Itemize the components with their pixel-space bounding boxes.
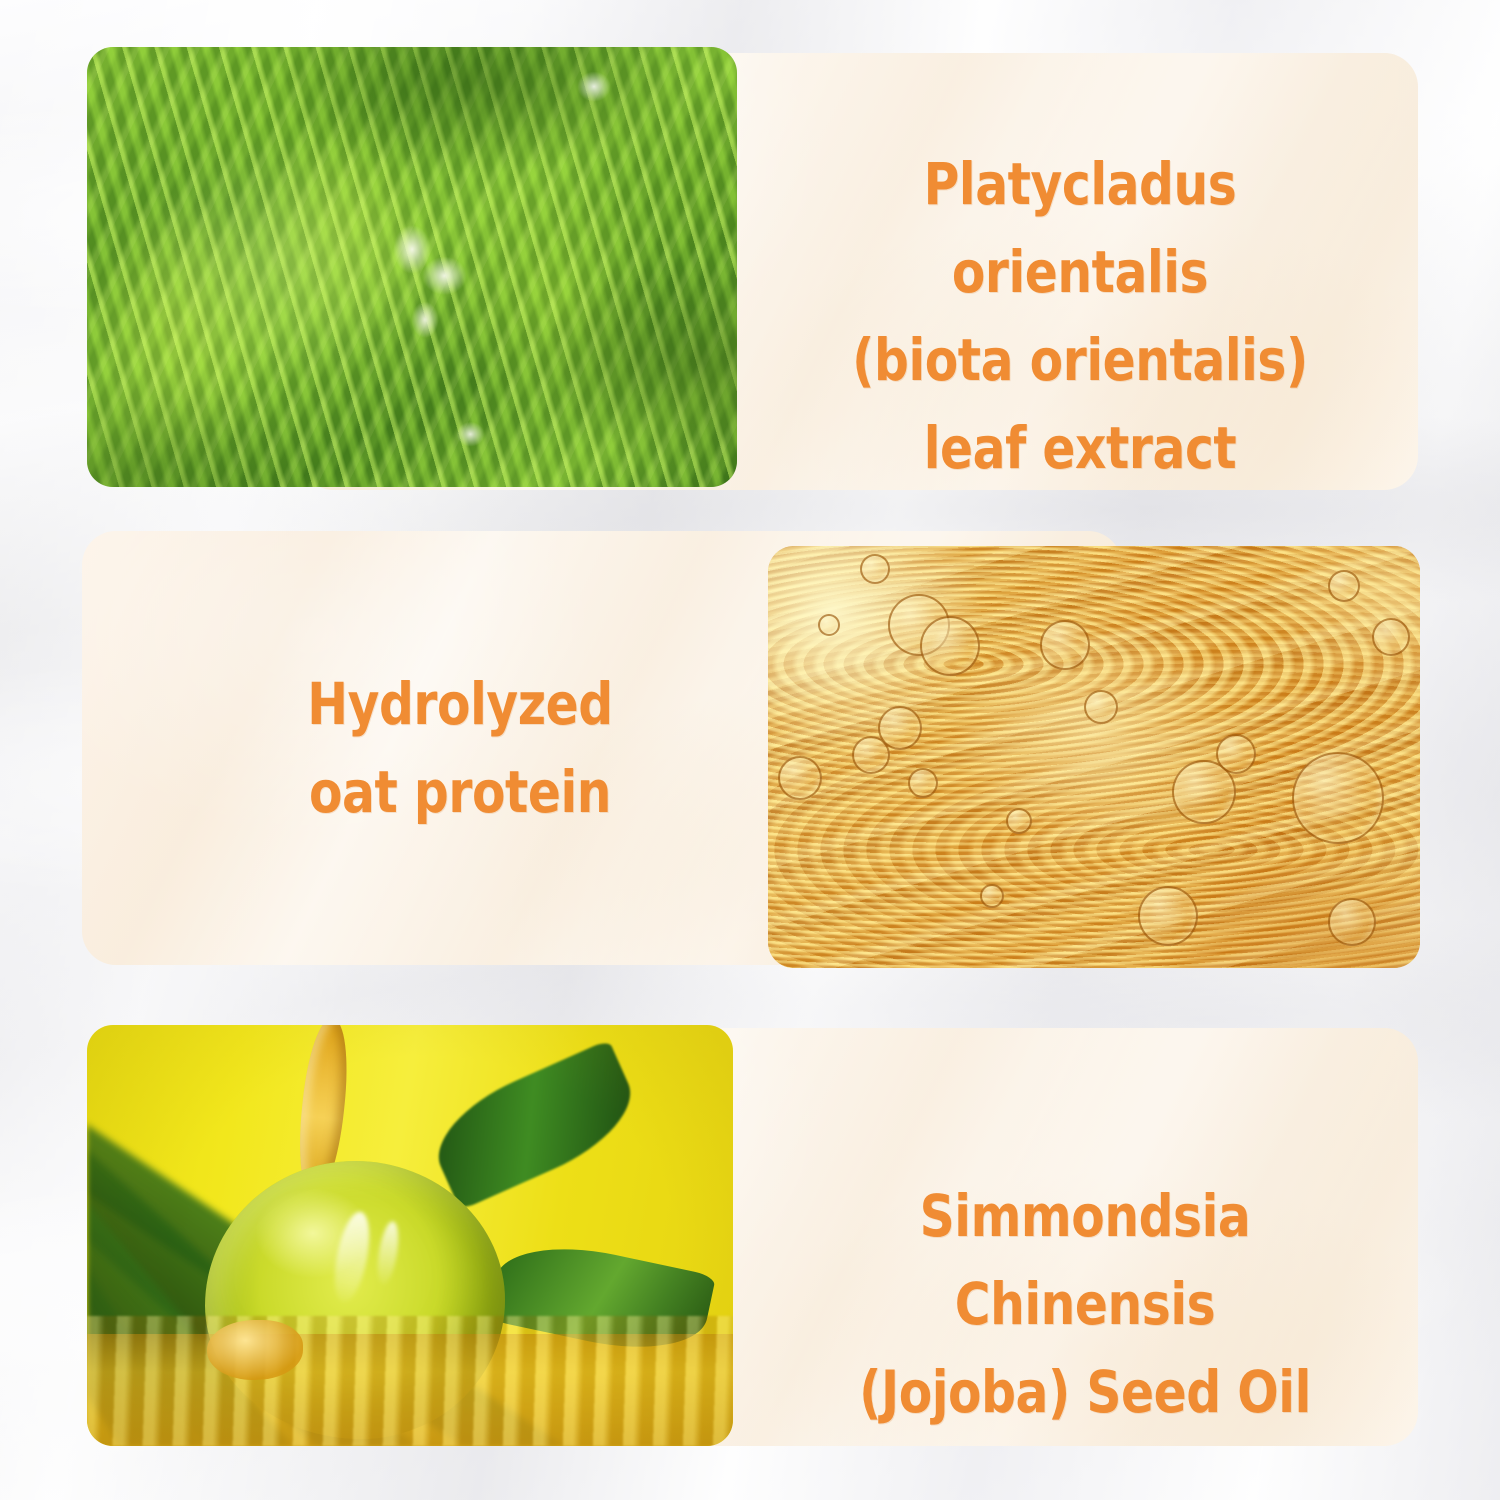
- oil-bubble: [1216, 734, 1256, 774]
- oil-bubble: [1372, 618, 1410, 656]
- foliage-buds: [87, 47, 737, 487]
- photo-vignette: [87, 1025, 733, 1446]
- oil-bubble: [1292, 752, 1384, 844]
- ingredient-name-platycladus: Platycladus orientalis (biota orientalis…: [794, 140, 1365, 493]
- oil-bubble: [860, 554, 890, 584]
- jojoba-berry-oil-photo: [87, 1025, 733, 1446]
- oil-bubble: [908, 768, 938, 798]
- oil-bubble: [818, 614, 840, 636]
- oil-bubble: [980, 884, 1004, 908]
- oil-bubble: [778, 756, 822, 800]
- wheat-in-oil-photo: [768, 546, 1420, 968]
- oil-bubble: [1006, 808, 1032, 834]
- ingredient-name-oat-protein: Hydrolyzed oat protein: [258, 660, 661, 836]
- oil-bubble: [1328, 898, 1376, 946]
- oil-bubble: [920, 616, 980, 676]
- oil-bubble: [852, 736, 890, 774]
- conifer-foliage-photo: [87, 47, 737, 487]
- oil-bubble: [1084, 690, 1118, 724]
- ingredient-name-jojoba: Simmondsia Chinensis (Jojoba) Seed Oil: [795, 1172, 1375, 1436]
- oil-bubble: [1040, 620, 1090, 670]
- oil-bubble: [1138, 886, 1198, 946]
- oil-bubble: [1328, 570, 1360, 602]
